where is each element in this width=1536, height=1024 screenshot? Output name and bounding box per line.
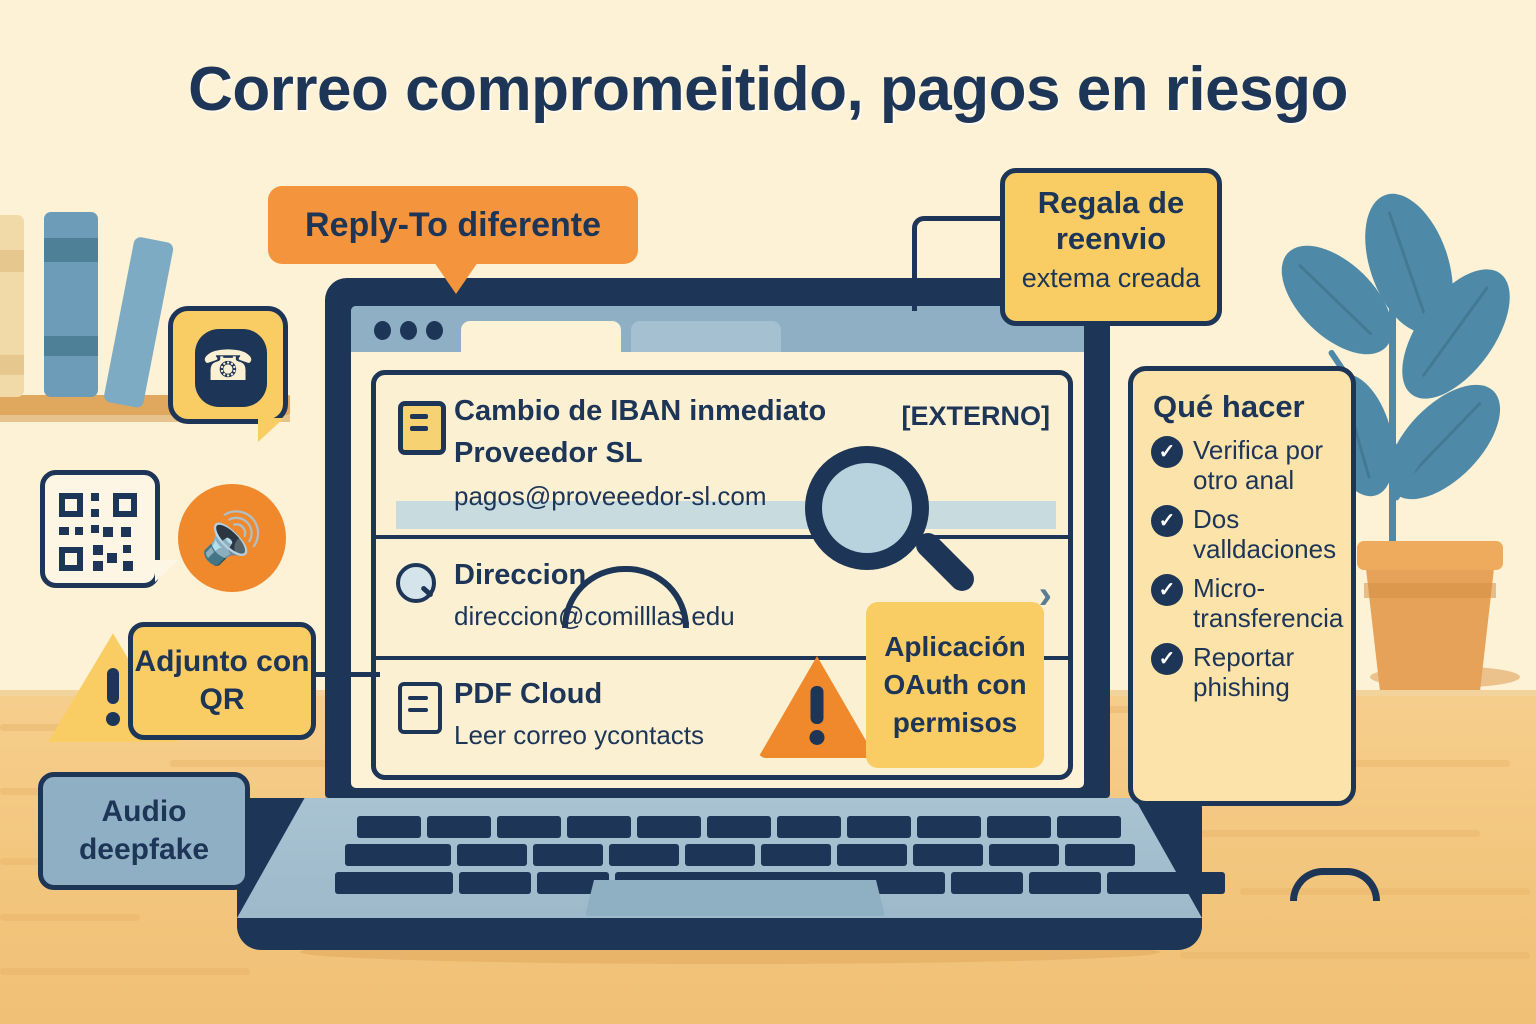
- mail-subject: Cambio de IBAN inmediato: [454, 395, 826, 428]
- desk-grain: [1240, 888, 1530, 895]
- connector-line: [310, 672, 380, 677]
- browser-tab-inactive[interactable]: [631, 321, 781, 352]
- list-item-label: Micro-transferencia: [1193, 573, 1343, 633]
- callout-forward-rule-title: Regala de reenvio: [1015, 185, 1207, 257]
- document-icon: [398, 682, 442, 734]
- list-item-label: Reportar phishing: [1193, 642, 1294, 702]
- window-dot-maximize[interactable]: [426, 321, 443, 340]
- status-badge: [EXTERNO]: [902, 401, 1051, 432]
- list-item-label: Verifica por otro anal: [1193, 435, 1323, 495]
- laptop-base: [237, 798, 1202, 950]
- plant-stem: [1389, 300, 1396, 555]
- panel-heading: Qué hacer: [1153, 389, 1337, 425]
- phone-bubble-tail: [258, 418, 284, 442]
- window-dot-minimize[interactable]: [400, 321, 417, 340]
- callout-oauth-app-label: Aplicación OAuth con permisos: [874, 628, 1036, 742]
- check-icon: ✓: [1151, 505, 1183, 537]
- callout-reply-to-label: Reply-To diferente: [305, 206, 601, 245]
- browser-tab-active[interactable]: [461, 321, 621, 352]
- trackpad[interactable]: [585, 880, 885, 916]
- check-icon: ✓: [1151, 436, 1183, 468]
- callout-audio-deepfake: Audio deepfake: [38, 772, 250, 890]
- plant-pot-band: [1364, 583, 1496, 598]
- desk-grain: [0, 914, 140, 921]
- plant-pot-rim: [1357, 541, 1503, 570]
- page-title: Correo compromeitido, pagos en riesgo: [0, 54, 1536, 125]
- warning-triangle-icon: [758, 654, 876, 758]
- callout-reply-to: Reply-To diferente: [268, 186, 638, 264]
- mail-sender: Proveedor SL: [454, 437, 643, 470]
- callout-audio-deepfake-label: Audio deepfake: [43, 793, 245, 869]
- callout-oauth-app: Aplicación OAuth con permisos: [866, 602, 1044, 768]
- callout-forward-rule-sub: extema creada: [1015, 263, 1207, 294]
- list-item: ✓ Micro-transferencia: [1147, 573, 1337, 633]
- phone-icon: ☎: [173, 311, 283, 419]
- mail-subject: PDF Cloud: [454, 678, 602, 711]
- list-item-label: Dos valldaciones: [1193, 504, 1336, 564]
- callout-attachment-qr-label: Adjunto con QR: [133, 643, 311, 719]
- desk-grain: [1180, 952, 1530, 959]
- desk-grain: [0, 968, 250, 975]
- magnifier-glass-large: [805, 446, 970, 626]
- list-item: ✓ Reportar phishing: [1147, 642, 1337, 702]
- mail-address: Leer correo ycontacts: [454, 720, 704, 751]
- book-tan: [0, 215, 24, 397]
- callout-forward-rule: Regala de reenvio extema creada: [1000, 168, 1222, 326]
- list-item: ✓ Dos valldaciones: [1147, 504, 1337, 564]
- panel-que-hacer: Qué hacer ✓ Verifica por otro anal ✓ Dos…: [1128, 366, 1356, 806]
- qr-code-icon: [59, 493, 137, 571]
- book-blue: [44, 212, 98, 397]
- check-icon: ✓: [1151, 643, 1183, 675]
- speaker-glyph: 🔊: [201, 513, 263, 563]
- list-item: ✓ Verifica por otro anal: [1147, 435, 1337, 495]
- callout-reply-to-pointer: [434, 262, 478, 294]
- envelope-icon: [398, 401, 446, 455]
- callout-attachment-qr: Adjunto con QR: [128, 622, 316, 740]
- window-dot-close[interactable]: [374, 321, 391, 340]
- mail-address: pagos@proveeedor-sl.com: [454, 481, 767, 512]
- qr-bubble: [40, 470, 160, 588]
- mail-subject: Direccion: [454, 559, 586, 592]
- infographic-scene: Correo compromeitido, pagos en riesgo Ca…: [0, 0, 1536, 1024]
- phone-bubble: ☎: [168, 306, 288, 424]
- speaker-icon: 🔊: [178, 484, 286, 592]
- check-icon: ✓: [1151, 574, 1183, 606]
- qr-bubble-tail: [155, 560, 179, 582]
- magnifier-icon: [396, 563, 436, 603]
- plant-pot: [1364, 551, 1496, 690]
